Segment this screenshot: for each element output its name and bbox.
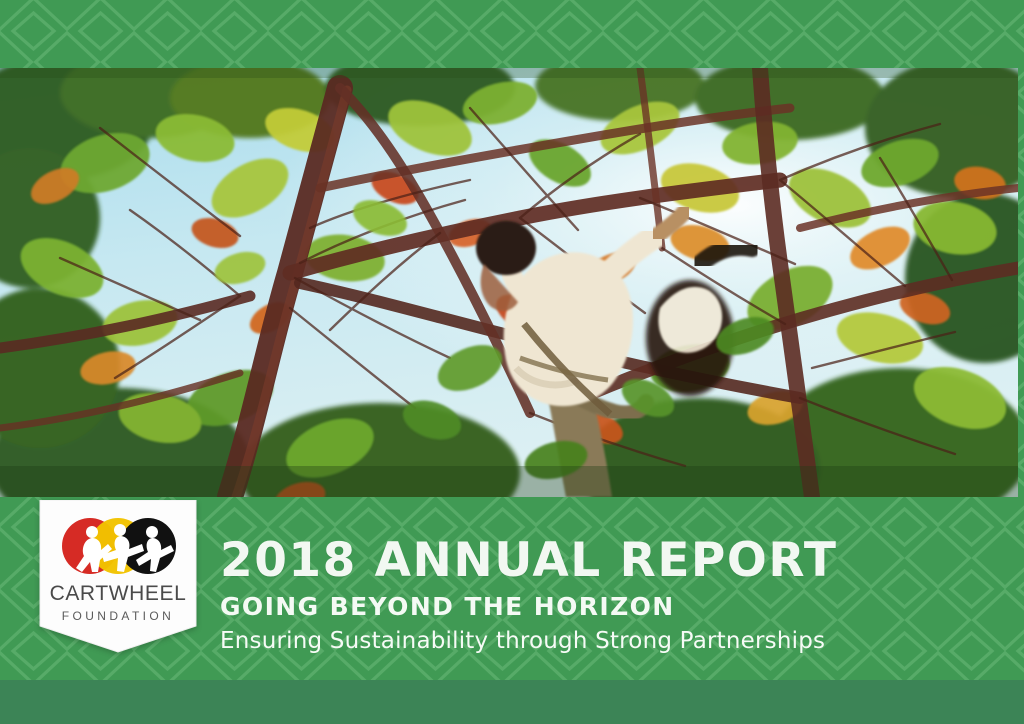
report-subtitle: GOING BEYOND THE HORIZON: [220, 592, 837, 622]
logo-wordmark-secondary: FOUNDATION: [62, 609, 174, 623]
logo-marks: [62, 518, 176, 574]
report-tagline: Ensuring Sustainability through Strong P…: [220, 626, 837, 656]
bottom-green-band: [0, 680, 1024, 724]
page-title: 2018 ANNUAL REPORT: [220, 536, 837, 586]
annual-report-cover: CARTWHEEL FOUNDATION 2018 ANNUAL REPORT …: [0, 0, 1024, 724]
hero-photograph: [0, 68, 1018, 497]
cartwheel-foundation-logo: CARTWHEEL FOUNDATION: [38, 500, 198, 663]
cover-title-block: 2018 ANNUAL REPORT GOING BEYOND THE HORI…: [220, 536, 837, 656]
logo-wordmark-primary: CARTWHEEL: [50, 582, 187, 605]
